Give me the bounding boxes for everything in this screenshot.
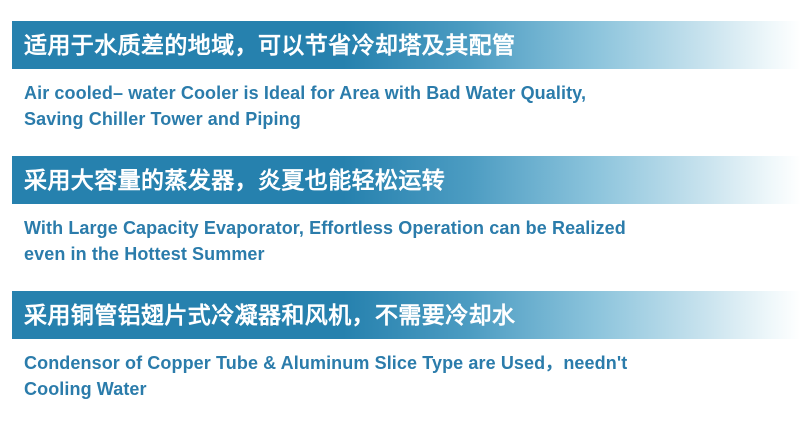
subtitle-en-3: Condensor of Copper Tube & Aluminum Slic… (24, 350, 764, 402)
feature-block-1: 适用于水质差的地域，可以节省冷却塔及其配管 Air cooled– water … (0, 21, 811, 132)
feature-block-3: 采用铜管铝翅片式冷凝器和风机，不需要冷却水 Condensor of Coppe… (0, 291, 811, 402)
subtitle-line-3-2: Cooling Water (24, 376, 764, 402)
headline-bar-1: 适用于水质差的地域，可以节省冷却塔及其配管 (12, 21, 801, 69)
subtitle-line-1-2: Saving Chiller Tower and Piping (24, 106, 764, 132)
subtitle-line-1-1: Air cooled– water Cooler is Ideal for Ar… (24, 80, 764, 106)
subtitle-line-2-2: even in the Hottest Summer (24, 241, 764, 267)
feature-list-page: 适用于水质差的地域，可以节省冷却塔及其配管 Air cooled– water … (0, 0, 811, 422)
subtitle-en-1: Air cooled– water Cooler is Ideal for Ar… (24, 80, 764, 132)
headline-bar-3: 采用铜管铝翅片式冷凝器和风机，不需要冷却水 (12, 291, 801, 339)
feature-block-2: 采用大容量的蒸发器，炎夏也能轻松运转 With Large Capacity E… (0, 156, 811, 267)
subtitle-line-3-1: Condensor of Copper Tube & Aluminum Slic… (24, 350, 764, 376)
headline-zh-2: 采用大容量的蒸发器，炎夏也能轻松运转 (12, 169, 445, 192)
headline-zh-1: 适用于水质差的地域，可以节省冷却塔及其配管 (12, 34, 515, 57)
headline-zh-3: 采用铜管铝翅片式冷凝器和风机，不需要冷却水 (12, 304, 515, 327)
subtitle-line-2-1: With Large Capacity Evaporator, Effortle… (24, 215, 764, 241)
headline-bar-2: 采用大容量的蒸发器，炎夏也能轻松运转 (12, 156, 801, 204)
subtitle-en-2: With Large Capacity Evaporator, Effortle… (24, 215, 764, 267)
